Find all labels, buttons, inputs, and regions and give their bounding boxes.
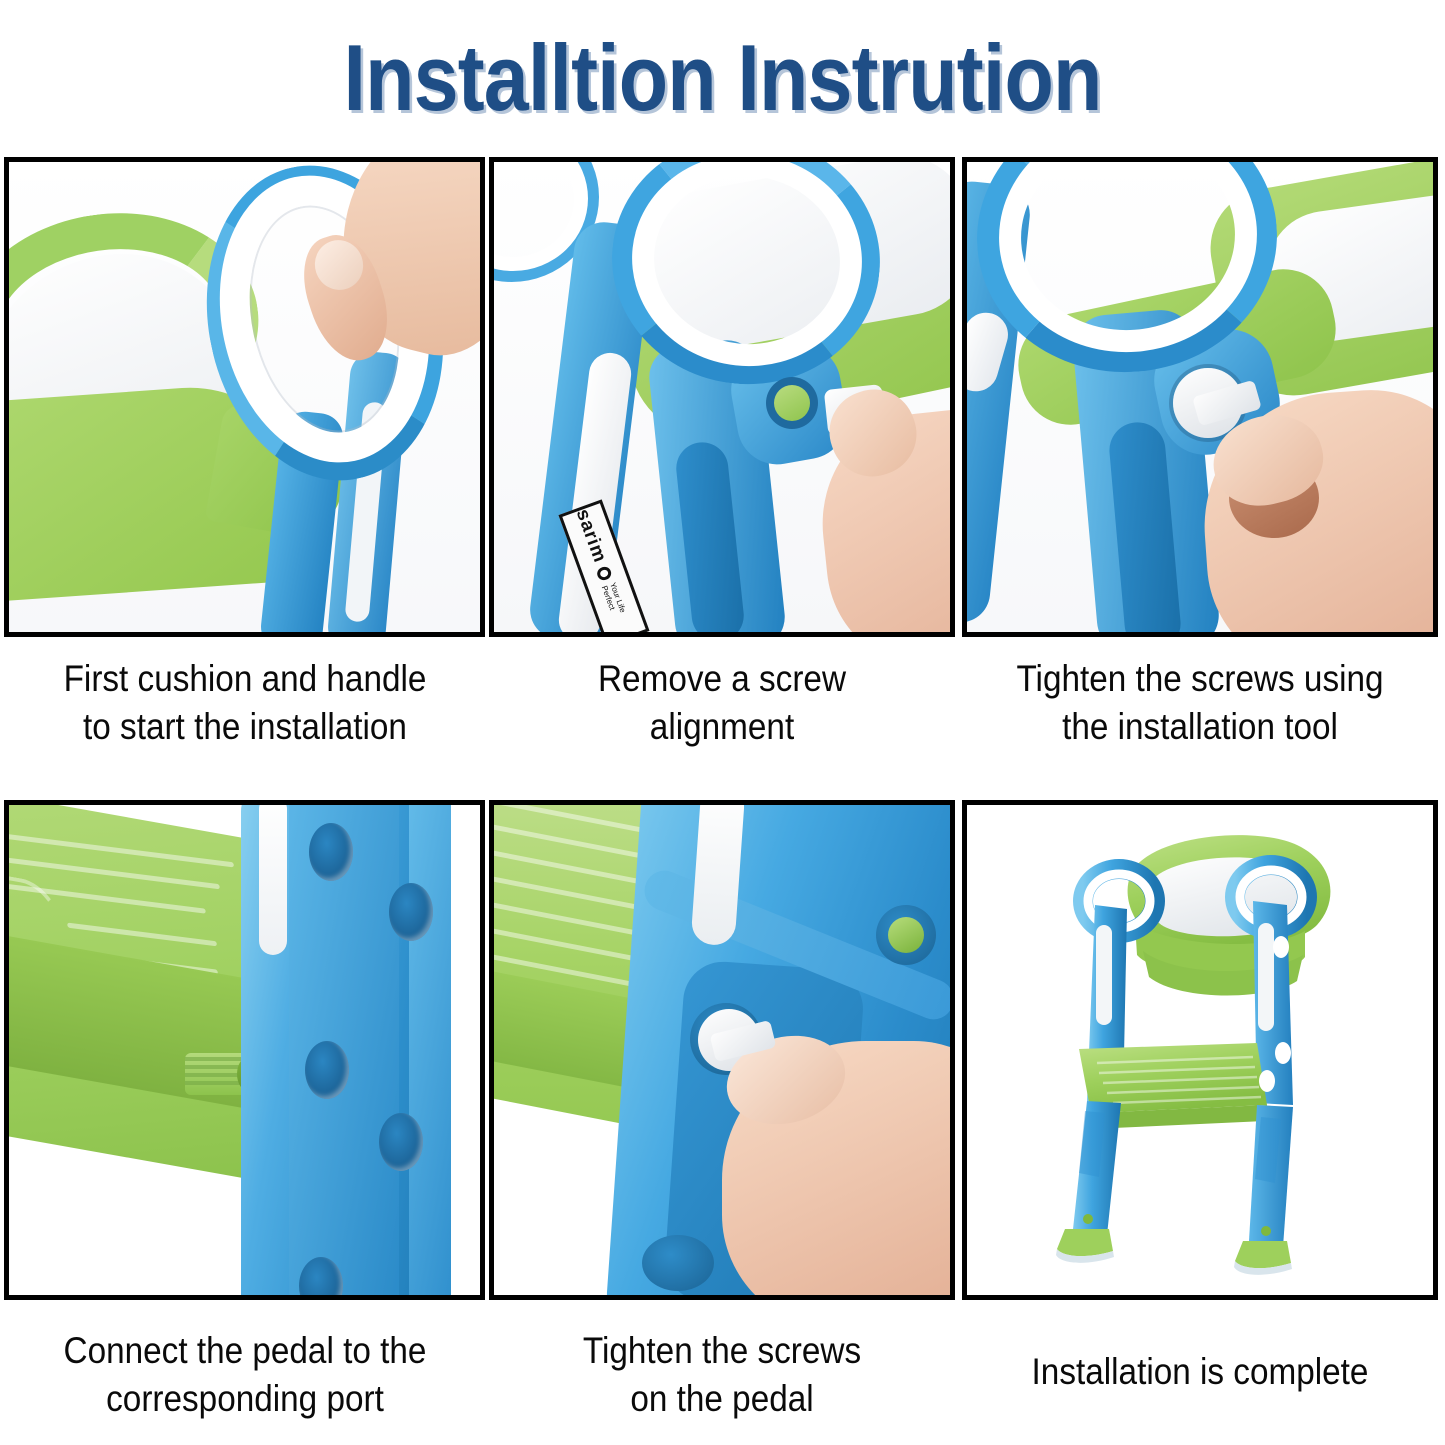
white-oval-insert xyxy=(1275,1042,1291,1064)
step-photo-3 xyxy=(962,157,1438,637)
white-insert-right xyxy=(1258,923,1274,1031)
step-photo-4 xyxy=(4,800,485,1300)
page-title: Installtion Instrution xyxy=(101,22,1344,134)
caption-line: Remove a screw xyxy=(515,655,929,703)
caption-line: Tighten the screws using xyxy=(984,655,1416,703)
brand-tagline: Your Life Perfect xyxy=(600,581,636,632)
caption-line: on the pedal xyxy=(515,1375,929,1423)
mounting-hole xyxy=(309,823,353,881)
caption-line: Installation is complete xyxy=(984,1348,1416,1396)
mounting-hole xyxy=(305,1041,349,1099)
brand-name: sarim xyxy=(571,506,611,566)
scene-step-3 xyxy=(967,162,1433,632)
caption-line: the installation tool xyxy=(984,703,1416,751)
caption-line: Tighten the screws xyxy=(515,1327,929,1375)
mounting-hole xyxy=(389,883,433,941)
white-oval-insert xyxy=(1273,936,1289,958)
caption-line: Connect the pedal to the xyxy=(34,1327,457,1375)
step-caption-6: Installation is complete xyxy=(984,1348,1416,1396)
blue-leg-inner xyxy=(289,805,399,1295)
instruction-sheet: Installtion Instrution xyxy=(0,0,1445,1445)
white-oval-insert xyxy=(1259,1070,1275,1092)
blue-side-rail xyxy=(409,805,451,1295)
caption-line: to start the installation xyxy=(34,703,457,751)
step-caption-1: First cushion and handle to start the in… xyxy=(34,655,457,751)
steps-row-bottom xyxy=(0,800,1445,1300)
mounting-hole xyxy=(379,1113,423,1171)
scene-step-5 xyxy=(494,805,950,1295)
scene-step-2: sarim Your Life Perfect xyxy=(494,162,950,632)
caption-line: alignment xyxy=(515,703,929,751)
scene-step-4 xyxy=(9,805,480,1295)
step-photo-5 xyxy=(489,800,955,1300)
tag-icon xyxy=(595,565,613,582)
step-photo-2: sarim Your Life Perfect xyxy=(489,157,955,637)
green-screw-insert xyxy=(774,385,810,421)
step-caption-5: Tighten the screws on the pedal xyxy=(515,1327,929,1423)
step-photo-1 xyxy=(4,157,485,637)
assembled-product-illustration xyxy=(967,805,1433,1295)
scene-step-6 xyxy=(967,805,1433,1295)
scene-step-1 xyxy=(9,162,480,632)
step-caption-2: Remove a screw alignment xyxy=(515,655,929,751)
pivot-dot xyxy=(1083,1214,1093,1224)
white-insert-left xyxy=(1096,925,1112,1025)
mounting-hole xyxy=(642,1235,714,1291)
step-caption-4: Connect the pedal to the corresponding p… xyxy=(34,1327,457,1423)
white-rail-insert xyxy=(259,805,287,955)
green-foot-right xyxy=(1235,1241,1291,1268)
step-caption-3: Tighten the screws using the installatio… xyxy=(984,655,1416,751)
steps-row-top: sarim Your Life Perfect xyxy=(0,157,1445,637)
step-photo-6 xyxy=(962,800,1438,1300)
caption-line: First cushion and handle xyxy=(34,655,457,703)
green-screw-insert xyxy=(888,917,924,953)
caption-line: corresponding port xyxy=(34,1375,457,1423)
green-foot-left xyxy=(1057,1229,1113,1256)
pivot-dot xyxy=(1261,1226,1271,1236)
